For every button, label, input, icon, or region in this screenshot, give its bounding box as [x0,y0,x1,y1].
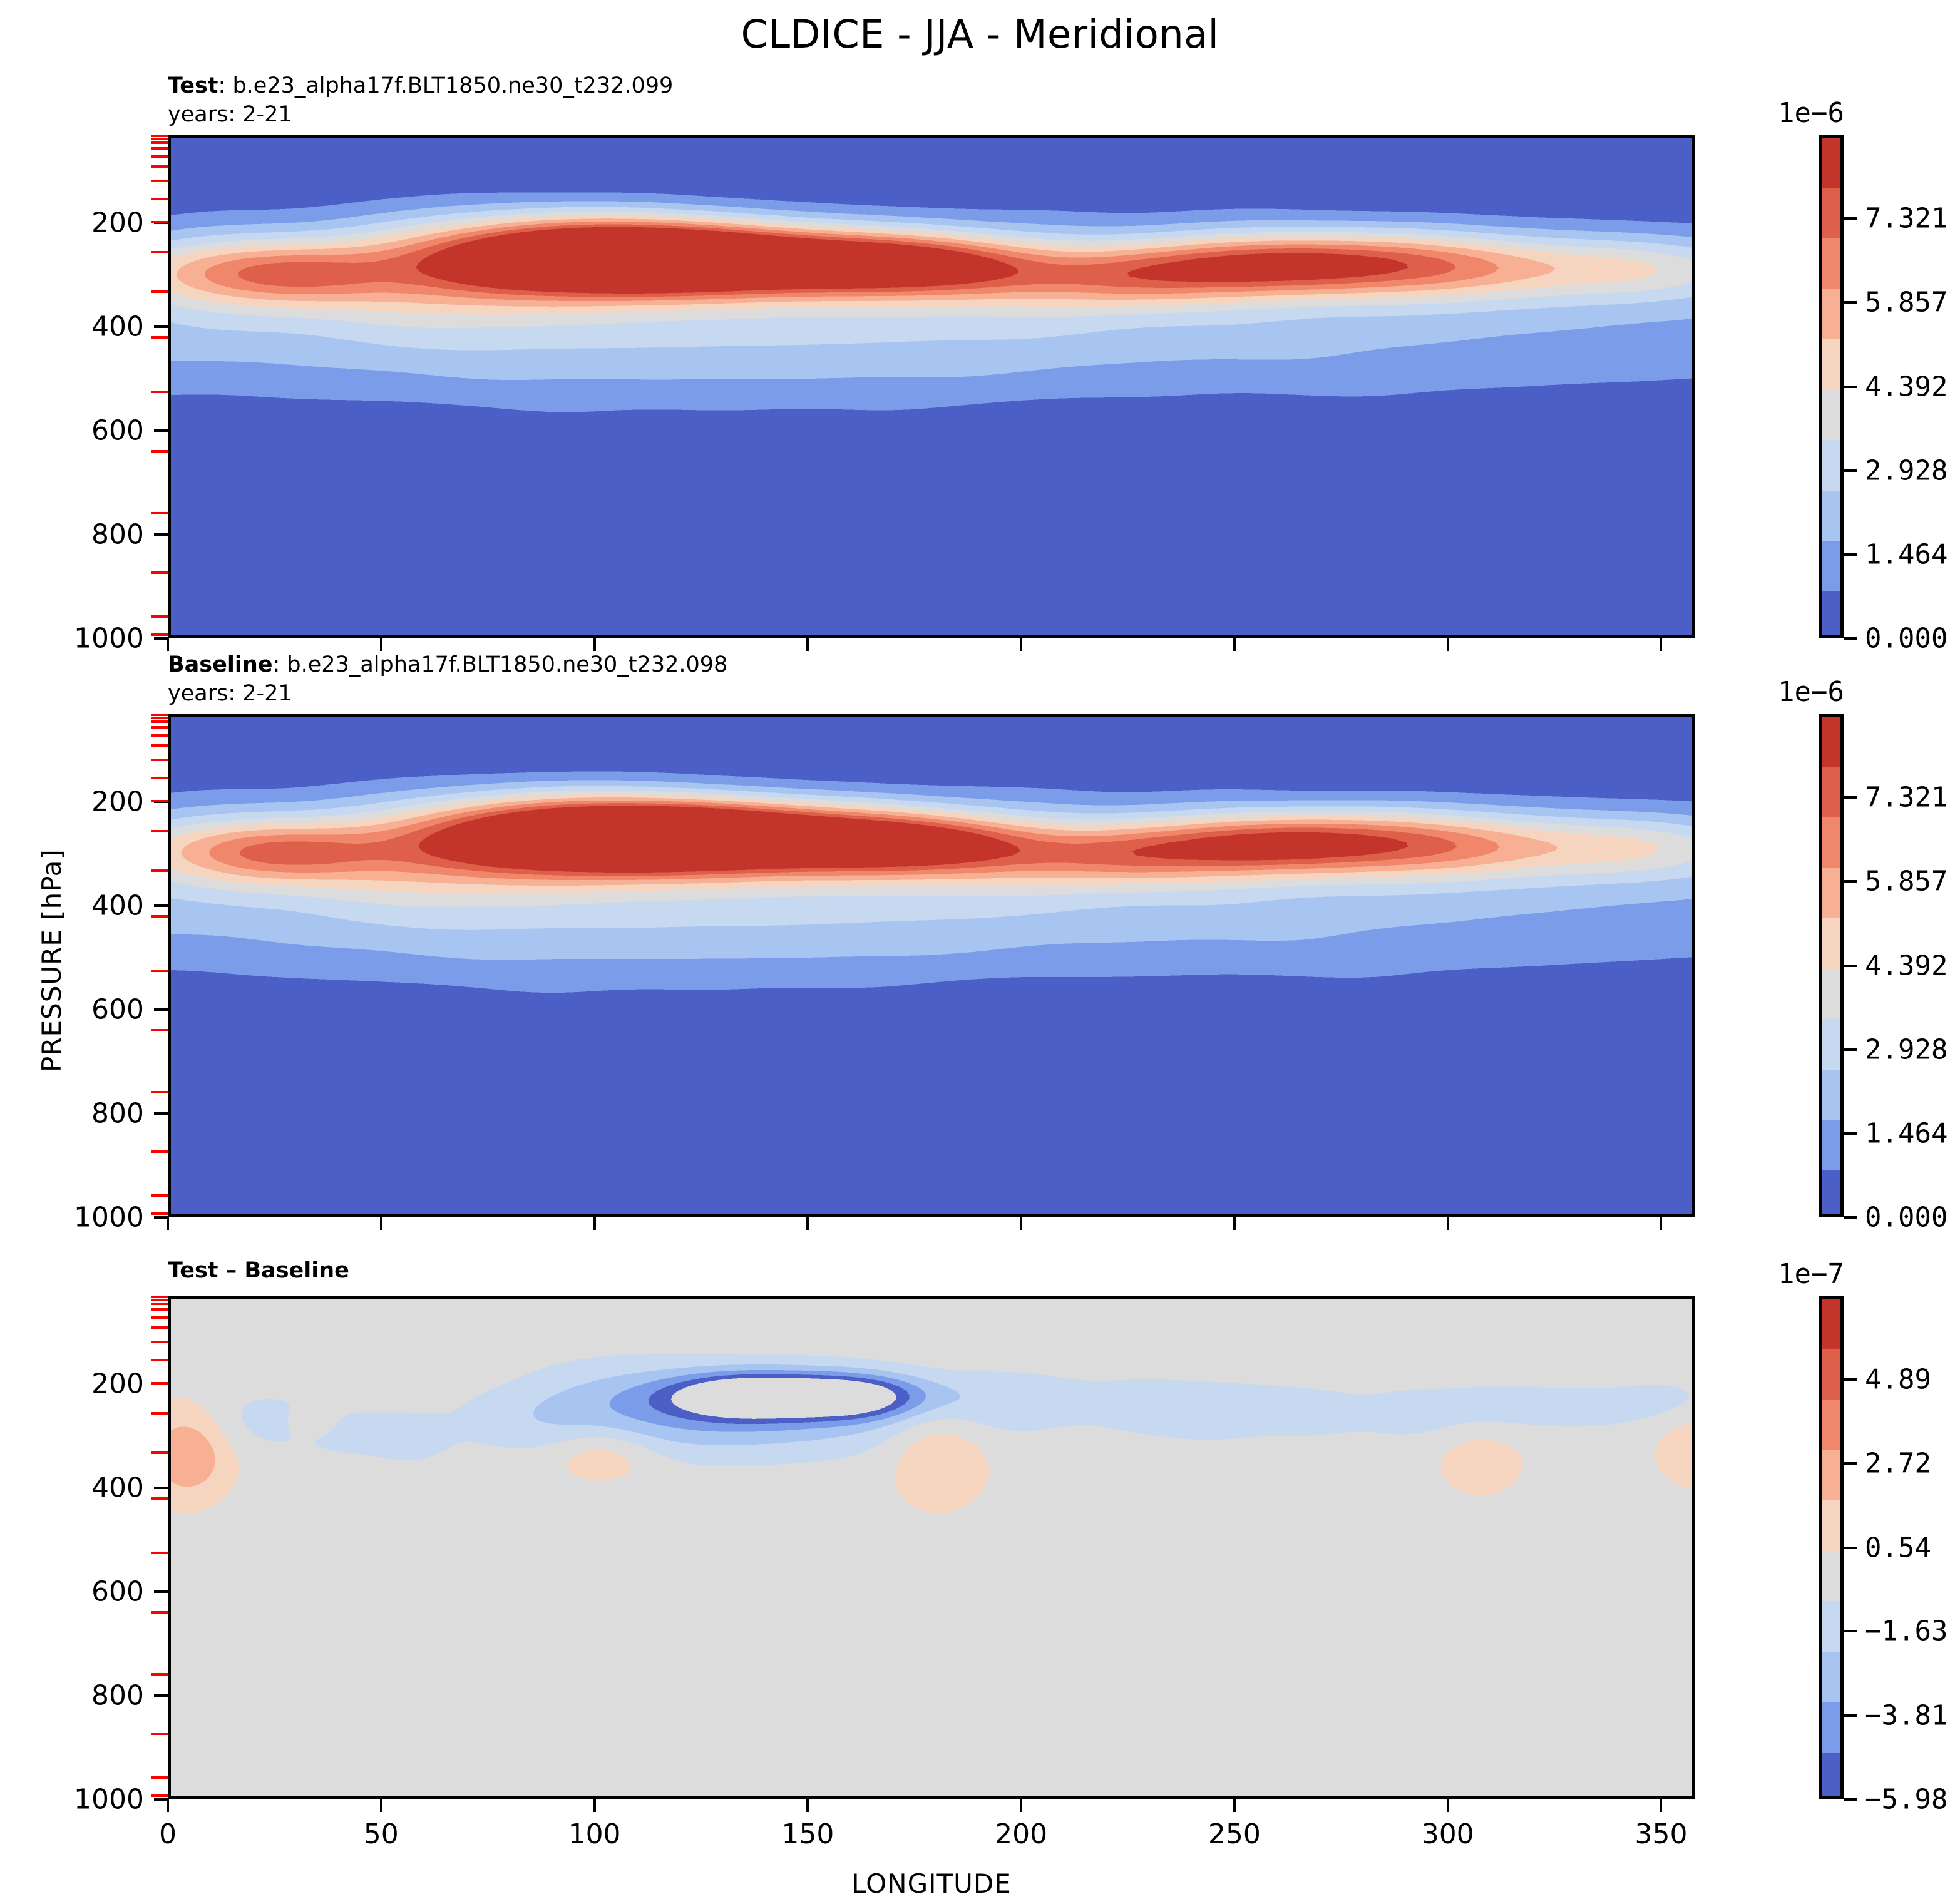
colorbar-band [1822,238,1840,289]
y-minor-tick-mark [151,726,168,729]
colorbar-band [1822,1070,1840,1120]
y-tick-label: 200 [11,1368,144,1400]
panel-caption-label: Baseline [168,652,273,677]
colorbar-tick-label: 5.857 [1865,866,1947,898]
y-tick-label: 600 [11,1576,144,1608]
y-tick-mark [154,904,168,907]
x-tick-mark [1660,1217,1662,1230]
colorbar-band [1822,1450,1840,1501]
y-minor-tick-mark [151,155,168,158]
panel-caption-test: Test: b.e23_alpha17f.BLT1850.ne30_t232.0… [168,72,673,129]
contour-fill-diff [171,1299,1695,1799]
y-tick-mark [154,1487,168,1489]
colorbar-tick-label: 7.321 [1865,203,1947,235]
y-tick-mark [154,1590,168,1593]
colorbar-band [1822,440,1840,491]
colorbar-band [1822,1400,1840,1450]
y-tick-label: 600 [11,994,144,1026]
x-tick-label: 300 [1422,1818,1474,1850]
colorbar-tick-label: −3.81 [1865,1700,1947,1732]
y-minor-tick-mark [151,1212,168,1215]
x-tick-mark [380,638,382,651]
colorbar-band [1822,1120,1840,1170]
y-minor-tick-mark [151,1150,168,1153]
y-minor-tick-mark [151,1776,168,1779]
y-minor-tick-mark [151,777,168,779]
y-minor-tick-mark [151,1382,168,1385]
y-tick-mark [154,1112,168,1115]
colorbar-tick-label: 7.321 [1865,782,1947,814]
y-tick-mark [154,1798,168,1801]
colorbar-tick-label: 4.89 [1865,1363,1931,1395]
y-minor-tick-mark [151,1341,168,1343]
colorbar-band [1822,1349,1840,1400]
colorbar-gradient [1819,1296,1844,1799]
colorbar-band [1822,969,1840,1020]
y-tick-label: 200 [11,786,144,818]
y-minor-tick-mark [151,869,168,872]
colorbar-tick-label: 1.464 [1865,538,1947,570]
x-tick-label: 50 [364,1818,399,1850]
colorbar-tick-mark [1844,553,1857,556]
plot-area-test [168,135,1695,638]
colorbar-band [1822,289,1840,340]
y-minor-tick-mark [151,147,168,150]
y-minor-tick-mark [151,633,168,636]
x-tick-mark [1233,1217,1236,1230]
colorbar-band [1822,591,1840,639]
colorbar-band [1822,868,1840,919]
y-tick-mark [154,1008,168,1011]
y-minor-tick-mark [151,141,168,144]
y-minor-tick-mark [151,1316,168,1319]
y-tick-label: 800 [11,1680,144,1712]
figure-title: CLDICE - JJA - Meridional [0,11,1960,57]
y-tick-label: 200 [11,207,144,239]
y-tick-label: 600 [11,415,144,447]
colorbar-tick-label: 2.72 [1865,1447,1931,1479]
colorbar-tick-mark [1844,1132,1857,1135]
colorbar-band [1822,339,1840,390]
colorbar-tick-label: −1.63 [1865,1615,1947,1647]
colorbar-band [1822,1601,1840,1652]
x-tick-label: 250 [1208,1818,1261,1850]
y-tick-label: 400 [11,311,144,343]
colorbar-gradient [1819,714,1844,1217]
x-tick-mark [806,1217,809,1230]
y-minor-tick-mark [151,138,168,140]
colorbar-tick-label: 0.000 [1865,1202,1947,1234]
y-minor-tick-mark [151,336,168,339]
colorbar-tick-mark [1844,1547,1857,1549]
y-minor-tick-mark [151,391,168,393]
y-tick-label: 1000 [11,1784,144,1816]
y-minor-tick-mark [151,1611,168,1614]
colorbar-tick-mark [1844,1798,1857,1801]
x-tick-mark [1020,1799,1022,1812]
colorbar-tick-mark [1844,217,1857,220]
y-minor-tick-mark [151,571,168,574]
x-tick-mark [1233,1799,1236,1812]
y-minor-tick-mark [151,1794,168,1797]
panel-caption-years: years: 2-21 [168,101,673,130]
x-tick-mark [1660,638,1662,651]
colorbar-band [1822,541,1840,591]
colorbar-tick-mark [1844,1378,1857,1381]
x-tick-label: 200 [995,1818,1047,1850]
colorbar-band [1822,817,1840,868]
y-axis-title: PRESSURE [hPa] [36,849,67,1072]
colorbar-band [1822,1702,1840,1753]
colorbar-gradient [1819,135,1844,638]
x-tick-mark [593,1799,596,1812]
y-minor-tick-mark [151,165,168,168]
y-tick-mark [154,533,168,536]
y-minor-tick-mark [151,1497,168,1500]
colorbar-tick-mark [1844,1714,1857,1717]
colorbar-tick-label: 4.392 [1865,371,1947,402]
y-minor-tick-mark [151,1299,168,1301]
colorbar-tick-mark [1844,965,1857,967]
y-tick-mark [154,637,168,640]
y-minor-tick-mark [151,1303,168,1305]
figure-canvas: CLDICE - JJA - Meridional PRESSURE [hPa]… [0,0,1960,1899]
y-tick-mark [154,1694,168,1697]
x-tick-label: 150 [781,1818,834,1850]
plot-area-baseline [168,714,1695,1217]
y-minor-tick-mark [151,1091,168,1093]
plot-area-diff [168,1296,1695,1799]
x-tick-label: 350 [1634,1818,1687,1850]
panel-caption-baseline: Baseline: b.e23_alpha17f.BLT1850.ne30_t2… [168,651,727,708]
colorbar-tick-mark [1844,1048,1857,1051]
colorbar-tick-label: −5.98 [1865,1784,1947,1816]
panel-caption-years: years: 2-21 [168,680,727,709]
x-tick-mark [593,1217,596,1230]
colorbar-band [1822,390,1840,441]
y-minor-tick-mark [151,1326,168,1329]
y-minor-tick-mark [151,1359,168,1361]
colorbar-exponent: 1e−7 [1778,1258,1844,1290]
colorbar-band [1822,1019,1840,1070]
x-tick-mark [167,1799,169,1812]
x-tick-label: 0 [159,1818,177,1850]
x-tick-mark [380,1799,382,1812]
x-axis-title: LONGITUDE [168,1868,1695,1899]
y-minor-tick-mark [151,1296,168,1298]
x-tick-mark [1447,1217,1449,1230]
colorbar-exponent: 1e−6 [1778,97,1844,129]
y-minor-tick-mark [151,1308,168,1311]
x-tick-mark [1020,638,1022,651]
colorbar-band [1822,138,1840,188]
colorbar-exponent: 1e−6 [1778,676,1844,708]
y-minor-tick-mark [151,915,168,918]
colorbar-tick-mark [1844,469,1857,472]
y-minor-tick-mark [151,734,168,737]
panel-caption-diff: Test – Baseline [168,1257,349,1286]
colorbar-tick-label: 0.54 [1865,1532,1931,1564]
y-tick-label: 400 [11,890,144,922]
colorbar-tick-mark [1844,1462,1857,1465]
panel-caption-case: : b.e23_alpha17f.BLT1850.ne30_t232.099 [218,73,674,98]
x-tick-mark [1233,638,1236,651]
colorbar-band [1822,918,1840,969]
colorbar-tick-label: 4.392 [1865,949,1947,981]
colorbar-band [1822,1652,1840,1702]
colorbar-band [1822,188,1840,239]
y-minor-tick-mark [151,800,168,802]
y-minor-tick-mark [151,180,168,182]
y-minor-tick-mark [151,1451,168,1454]
y-minor-tick-mark [151,1029,168,1031]
x-tick-mark [380,1217,382,1230]
colorbar-tick-mark [1844,796,1857,799]
colorbar-tick-mark [1844,1216,1857,1219]
y-minor-tick-mark [151,744,168,747]
colorbar-band [1822,1299,1840,1349]
y-minor-tick-mark [151,290,168,293]
colorbar-tick-label: 2.928 [1865,1033,1947,1065]
y-tick-label: 1000 [11,1202,144,1234]
colorbar-tick-mark [1844,386,1857,388]
y-minor-tick-mark [151,450,168,453]
x-tick-label: 100 [568,1818,621,1850]
y-minor-tick-mark [151,1552,168,1554]
colorbar-tick-label: 2.928 [1865,454,1947,486]
x-tick-mark [1447,1799,1449,1812]
y-tick-mark [154,325,168,328]
y-tick-label: 800 [11,1098,144,1130]
y-minor-tick-mark [151,970,168,972]
colorbar-band [1822,491,1840,541]
y-minor-tick-mark [151,512,168,514]
panel-caption-case: : b.e23_alpha17f.BLT1850.ne30_t232.098 [273,652,728,677]
y-minor-tick-mark [151,615,168,618]
colorbar-tick-label: 1.464 [1865,1117,1947,1149]
x-tick-mark [1020,1217,1022,1230]
colorbar-tick-mark [1844,880,1857,883]
y-minor-tick-mark [151,251,168,253]
y-tick-mark [154,1216,168,1219]
x-tick-mark [1660,1799,1662,1812]
x-tick-mark [806,638,809,651]
y-minor-tick-mark [151,1194,168,1197]
y-minor-tick-mark [151,830,168,832]
colorbar-tick-mark [1844,637,1857,640]
x-tick-mark [167,1217,169,1230]
y-minor-tick-mark [151,135,168,137]
x-tick-mark [806,1799,809,1812]
x-tick-mark [167,638,169,651]
colorbar-tick-mark [1844,1630,1857,1632]
y-minor-tick-mark [151,198,168,200]
panel-caption-label: Test – Baseline [168,1258,349,1283]
colorbar-band [1822,1500,1840,1551]
y-minor-tick-mark [151,1673,168,1676]
y-tick-label: 400 [11,1472,144,1504]
y-minor-tick-mark [151,714,168,716]
y-minor-tick-mark [151,759,168,761]
contour-fill-baseline [171,717,1695,1217]
colorbar-band [1822,1753,1840,1800]
colorbar-tick-label: 0.000 [1865,623,1947,655]
panel-caption-label: Test [168,73,218,98]
contour-fill-test [171,138,1695,638]
x-tick-mark [593,638,596,651]
colorbar-band [1822,1551,1840,1602]
colorbar-band [1822,1170,1840,1218]
y-tick-mark [154,429,168,432]
y-minor-tick-mark [151,1412,168,1415]
y-minor-tick-mark [151,717,168,719]
y-tick-label: 1000 [11,623,144,655]
colorbar-band [1822,717,1840,767]
y-minor-tick-mark [151,1733,168,1735]
y-tick-label: 800 [11,519,144,551]
y-minor-tick-mark [151,720,168,723]
colorbar-tick-label: 5.857 [1865,287,1947,319]
y-minor-tick-mark [151,221,168,223]
colorbar-band [1822,767,1840,818]
colorbar-tick-mark [1844,301,1857,304]
x-tick-mark [1447,638,1449,651]
